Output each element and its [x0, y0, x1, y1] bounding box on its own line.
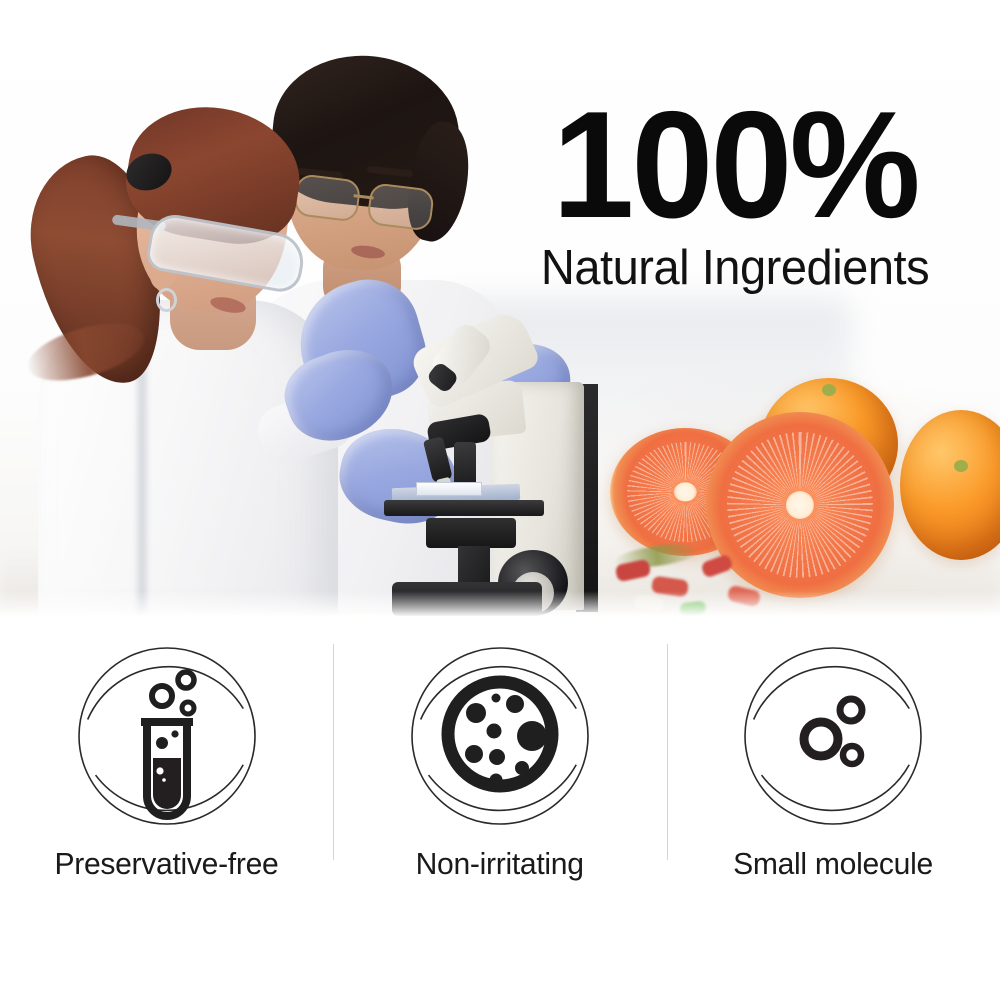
- orange-stem-nub: [822, 384, 836, 396]
- feature-item-preservative-free: Preservative-free: [0, 630, 333, 930]
- feature-item-non-irritating: Non-irritating: [333, 630, 666, 930]
- microscope-stage: [384, 500, 544, 516]
- feature-row: Preservative-free: [0, 630, 1000, 930]
- headline-percent: 100%: [507, 96, 963, 236]
- microscope-eyepiece: [427, 319, 495, 391]
- photo-bottom-fade: [0, 591, 1000, 617]
- feature-label: Preservative-free: [55, 846, 279, 882]
- orange-pith-core: [674, 482, 697, 501]
- laboratory-microscope: [370, 300, 620, 616]
- eyeglass-lens-right: [366, 182, 435, 231]
- headline-block: 100% Natural Ingredients: [500, 96, 970, 293]
- microscope-slide: [416, 482, 482, 496]
- product-feature-banner: 100% Natural Ingredients: [0, 0, 1000, 1000]
- earring: [156, 288, 177, 312]
- feature-item-small-molecule: Small molecule: [667, 630, 1000, 930]
- whole-orange-right: [900, 410, 1000, 560]
- feature-label: Non-irritating: [416, 846, 584, 882]
- oranges-group: [610, 372, 1000, 617]
- test-tube-icon: [69, 638, 265, 834]
- petri-dish-icon: [402, 638, 598, 834]
- molecules-icon: [735, 638, 931, 834]
- headline-subtitle: Natural Ingredients: [509, 244, 960, 293]
- orange-stem-nub: [954, 460, 968, 472]
- microscope-substage: [426, 518, 516, 548]
- feature-label: Small molecule: [733, 846, 933, 882]
- orange-pith-core: [786, 491, 814, 519]
- capsule: [700, 553, 734, 578]
